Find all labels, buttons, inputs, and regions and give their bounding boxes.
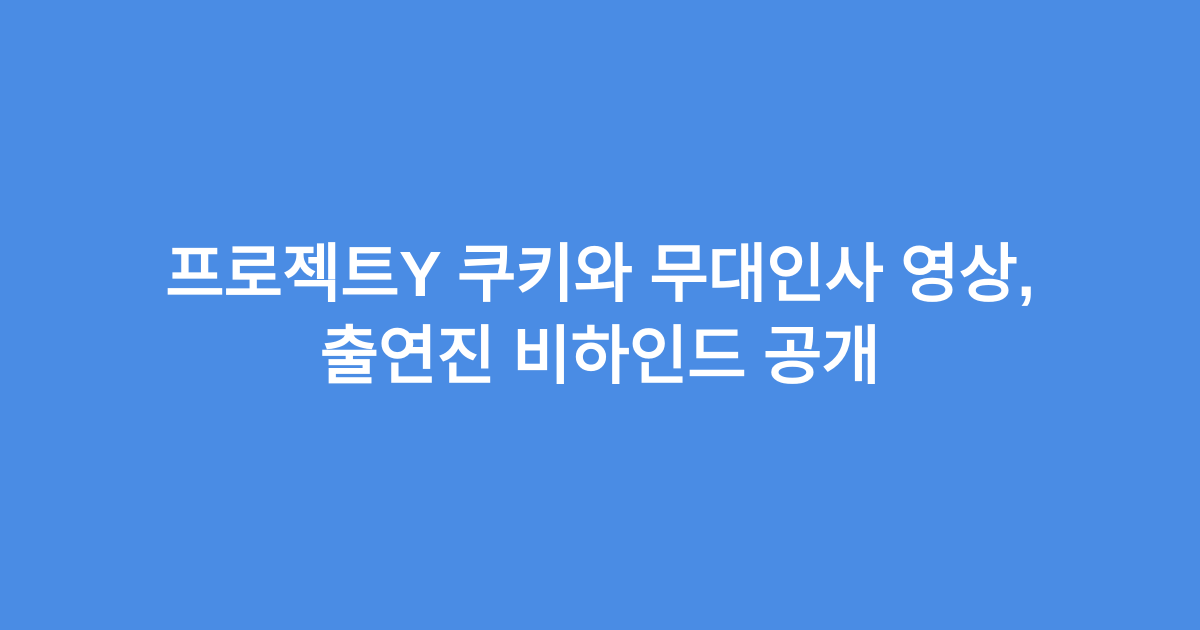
- card-title-line-2: 출연진 비하인드 공개: [320, 315, 880, 397]
- social-share-card: 프로젝트Y 쿠키와 무대인사 영상, 출연진 비하인드 공개: [0, 0, 1200, 630]
- card-title-line-1: 프로젝트Y 쿠키와 무대인사 영상,: [165, 233, 1034, 315]
- card-title-block: 프로젝트Y 쿠키와 무대인사 영상, 출연진 비하인드 공개: [100, 233, 1100, 397]
